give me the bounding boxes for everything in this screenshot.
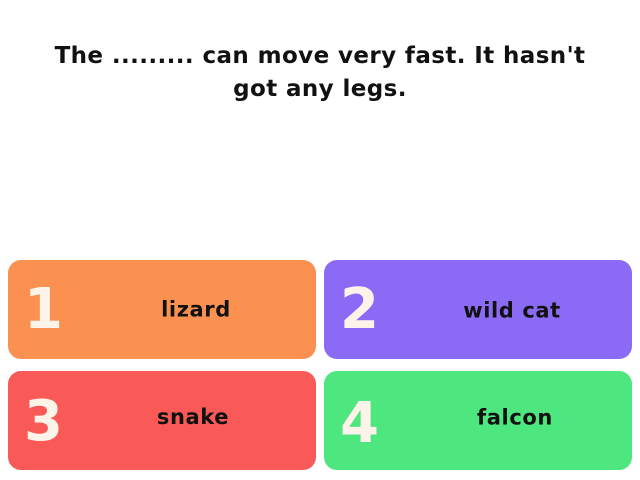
answer-option-2-label: wild cat — [402, 299, 622, 322]
answer-option-3-label: snake — [80, 405, 306, 428]
answer-option-4-number: 4 — [340, 396, 378, 452]
answer-option-4[interactable]: 4 falcon — [324, 371, 632, 470]
answer-option-1[interactable]: 1 lizard — [8, 260, 316, 359]
answer-option-3-number: 3 — [24, 394, 62, 450]
answer-option-2-number: 2 — [340, 282, 378, 338]
answer-option-1-label: lizard — [86, 298, 306, 321]
answer-option-2[interactable]: 2 wild cat — [324, 260, 632, 359]
answer-options-grid: 1 lizard 2 wild cat 3 snake 4 falcon — [8, 260, 632, 470]
answer-option-4-label: falcon — [408, 406, 622, 429]
answer-option-3[interactable]: 3 snake — [8, 371, 316, 470]
question-area: The ......... can move very fast. It has… — [0, 40, 640, 107]
question-text: The ......... can move very fast. It has… — [40, 40, 600, 107]
answer-option-1-number: 1 — [24, 282, 62, 338]
quiz-screen: The ......... can move very fast. It has… — [0, 0, 640, 480]
